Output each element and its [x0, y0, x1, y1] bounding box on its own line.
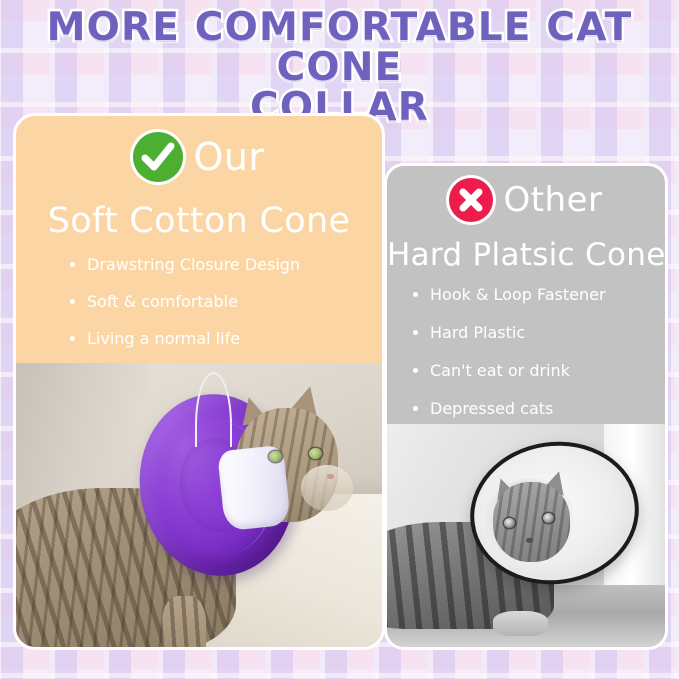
list-item: Drawstring Closure Design — [70, 257, 382, 273]
other-badge-label: Other — [503, 183, 602, 217]
list-item: Can't eat or drink — [413, 363, 665, 379]
list-item: Hard Plastic — [413, 325, 665, 341]
other-feature-list: Hook & Loop Fastener Hard Plastic Can't … — [413, 287, 665, 417]
page-title: MORE COMFORTABLE CAT CONE COLLAR — [0, 8, 679, 127]
cat-eye-left — [269, 451, 282, 462]
page-title-line-1: MORE COMFORTABLE CAT CONE — [0, 8, 679, 88]
cat-eye-right — [543, 513, 554, 523]
our-panel-header: Our — [16, 132, 382, 182]
check-circle-icon — [133, 132, 183, 182]
other-product-photo — [387, 424, 665, 647]
cat-eye-left — [504, 518, 515, 528]
cat-nose — [526, 538, 533, 543]
cross-circle-icon — [449, 178, 493, 222]
our-product-panel: Our Soft Cotton Cone Drawstring Closure … — [13, 113, 385, 650]
our-product-photo — [16, 363, 382, 647]
grayscale-cat-scene — [387, 424, 665, 647]
other-subtitle: Hard Platsic Cone — [387, 240, 665, 271]
other-product-panel: Other Hard Platsic Cone Hook & Loop Fast… — [384, 163, 668, 650]
other-panel-header: Other — [387, 178, 665, 222]
cat-muzzle — [301, 465, 352, 510]
list-item: Depressed cats — [413, 401, 665, 417]
product-comparison-infographic: MORE COMFORTABLE CAT CONE COLLAR Other H… — [0, 0, 679, 679]
cat-eye-right — [309, 448, 322, 459]
color-cat-scene — [16, 363, 382, 647]
cat-leg — [162, 596, 206, 647]
our-badge-label: Our — [193, 138, 264, 176]
cat-nose — [327, 474, 334, 479]
list-item: Hook & Loop Fastener — [413, 287, 665, 303]
our-subtitle: Soft Cotton Cone — [16, 204, 382, 239]
cat-paw — [493, 611, 549, 636]
list-item: Living a normal life — [70, 331, 382, 347]
list-item: Soft & comfortable — [70, 294, 382, 310]
